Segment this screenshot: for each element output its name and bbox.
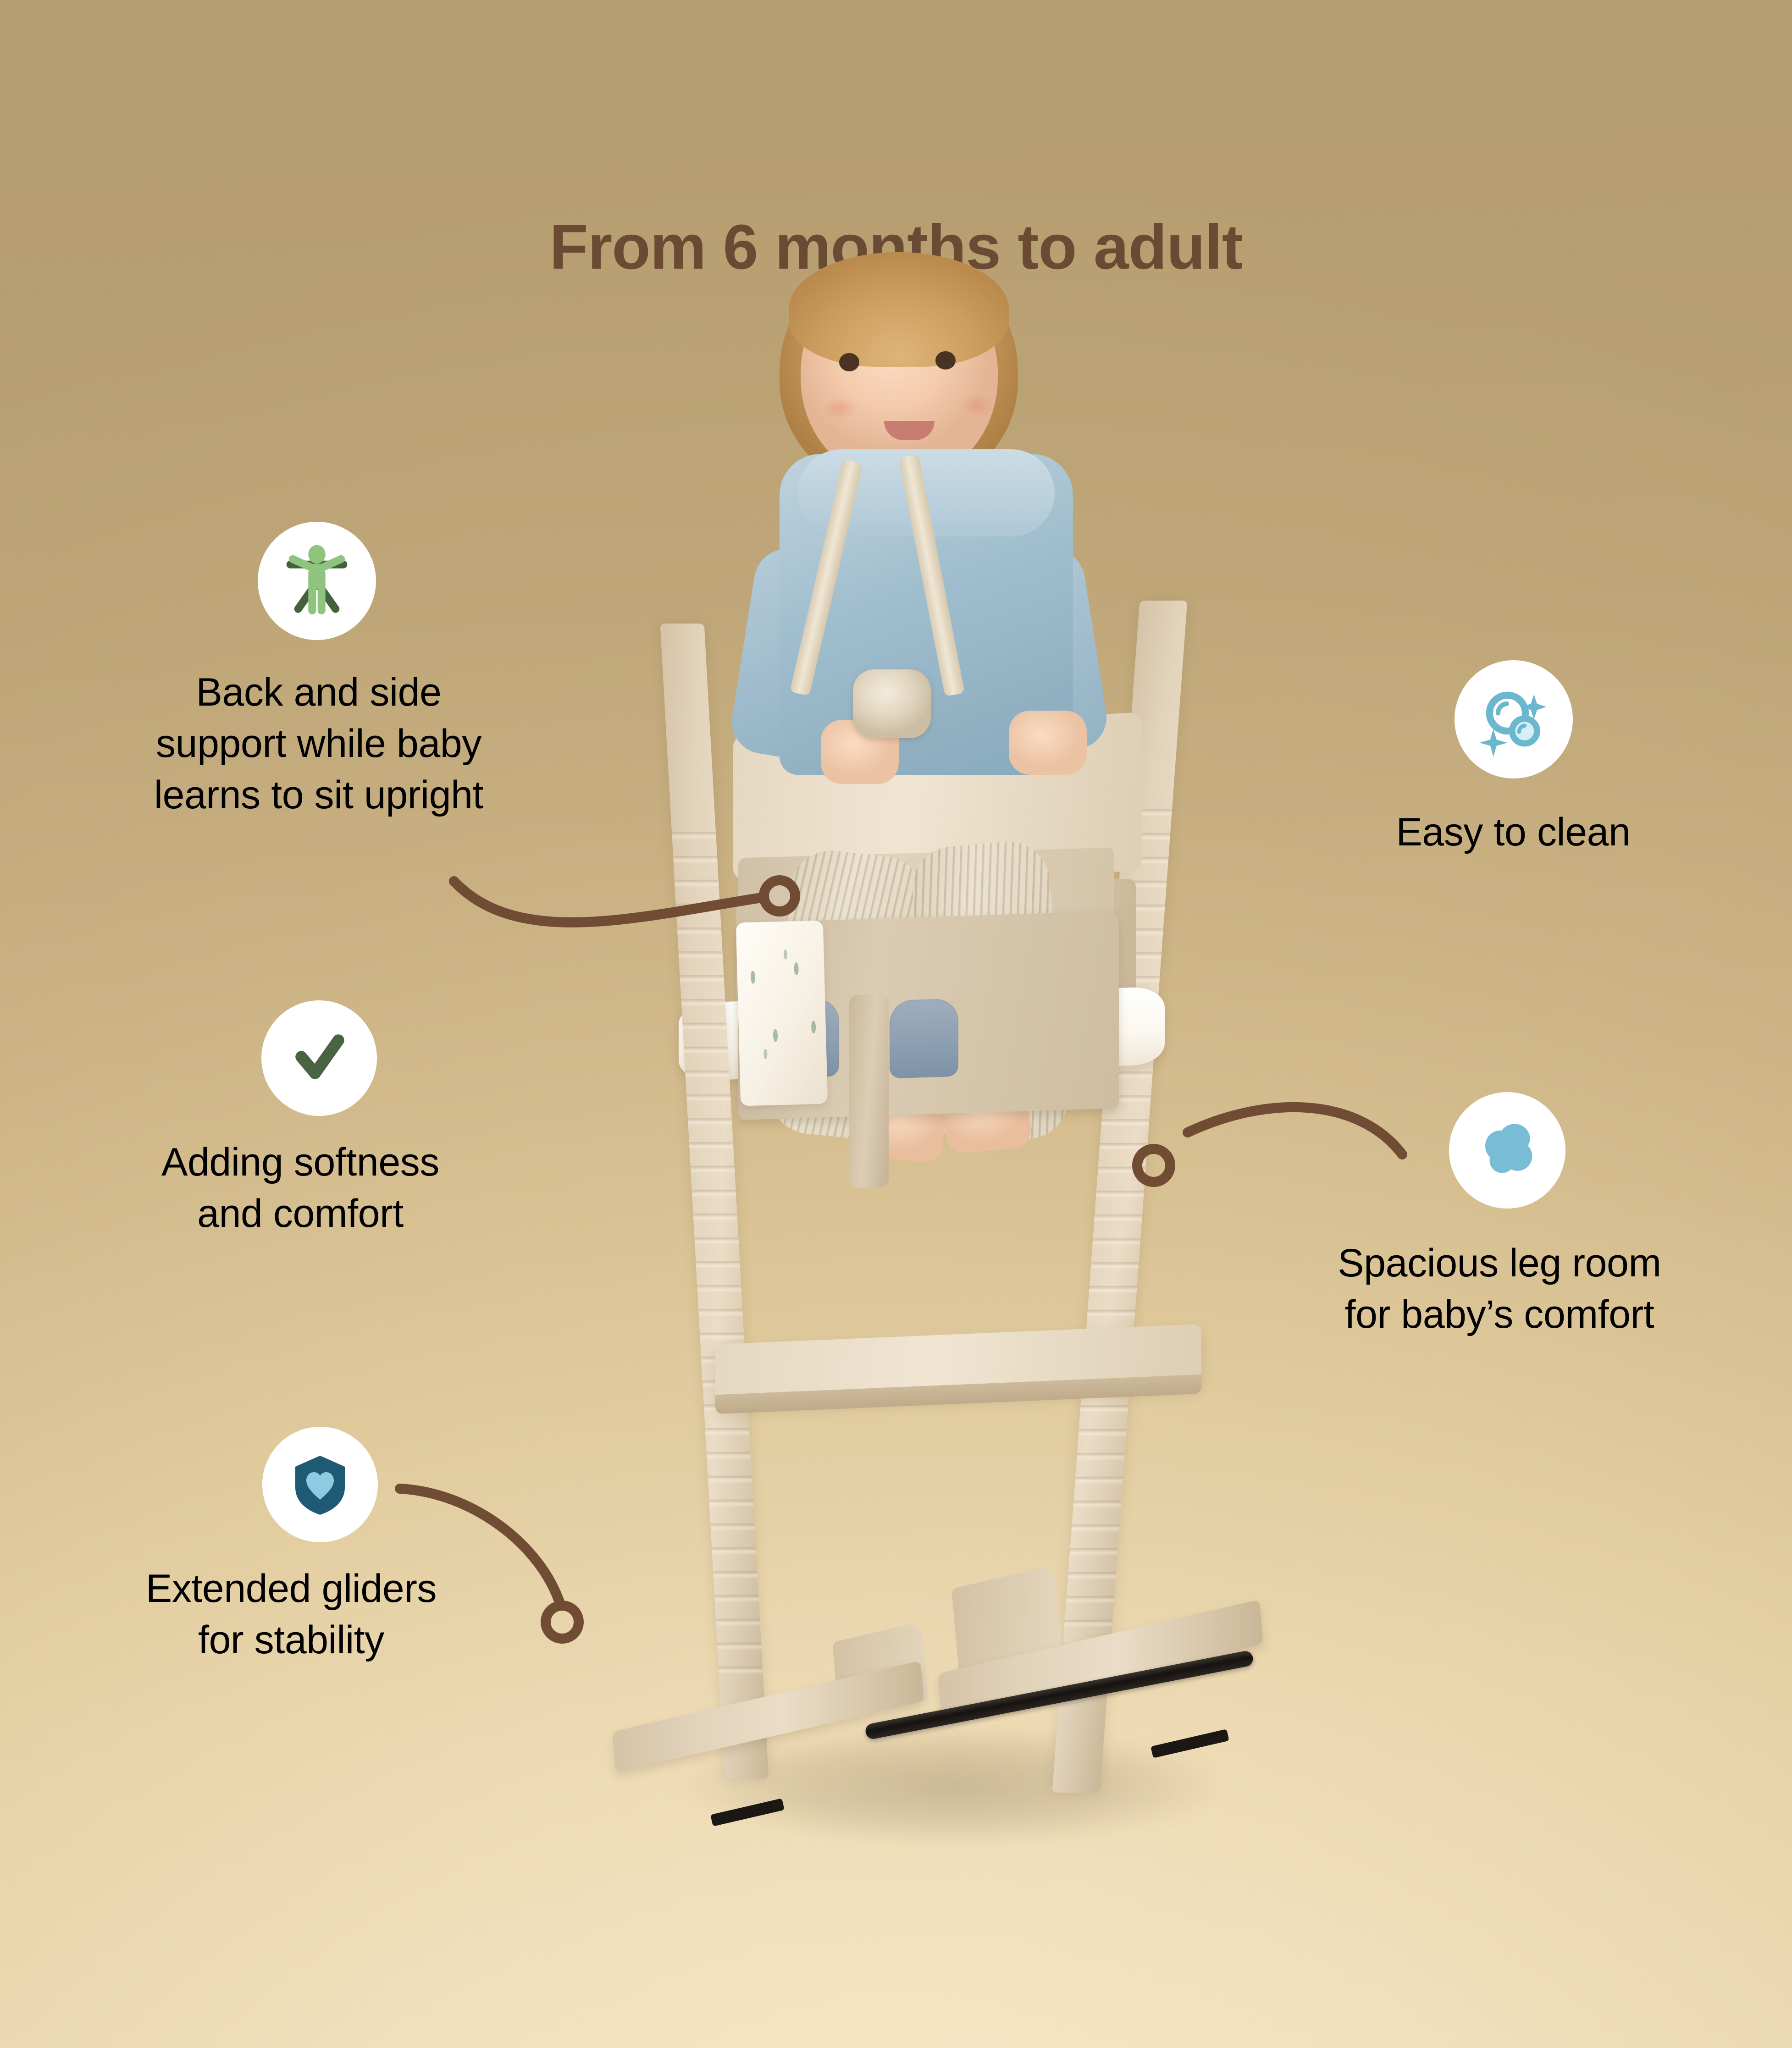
product-photo <box>541 403 1330 1916</box>
baby-set-center-post <box>849 994 889 1188</box>
check-icon <box>261 1000 377 1116</box>
caption-line: learns to sit upright <box>50 770 587 821</box>
cloud-glyph <box>1471 1114 1544 1187</box>
caption-line: Back and side <box>50 667 587 718</box>
cloud-icon <box>1449 1092 1565 1209</box>
feature-caption-spacious-leg-room: Spacious leg room for baby’s comfort <box>1229 1238 1770 1341</box>
shield-heart-icon <box>262 1427 378 1542</box>
check-glyph <box>285 1024 354 1093</box>
infographic-canvas: From 6 months to adult <box>0 0 1792 2048</box>
caption-line: Extended gliders <box>50 1563 532 1615</box>
baby-hair-fringe <box>789 252 1009 367</box>
feature-caption-easy-to-clean: Easy to clean <box>1256 807 1770 858</box>
bubbles-sparkle-icon <box>1455 660 1573 778</box>
cushion-leaf-print <box>736 921 828 1106</box>
baby-hand-right <box>1009 711 1087 775</box>
baby-eye-right <box>935 351 956 370</box>
shield-heart-glyph <box>286 1450 354 1519</box>
side-support-cushion <box>736 921 828 1106</box>
caption-line: for stability <box>50 1615 532 1666</box>
baby-cheek-right <box>952 390 1002 422</box>
vitruvian-body-icon <box>258 522 376 640</box>
feature-caption-extended-gliders: Extended gliders for stability <box>50 1563 532 1666</box>
baby-set-opening-right <box>890 999 958 1079</box>
bubbles-sparkle-glyph <box>1475 680 1553 758</box>
caption-line: and comfort <box>50 1188 550 1240</box>
caption-line: Spacious leg room <box>1229 1238 1770 1289</box>
caption-line: Easy to clean <box>1256 807 1770 858</box>
feature-caption-back-and-side-support: Back and side support while baby learns … <box>50 667 587 821</box>
baby-eye-left <box>839 353 859 371</box>
caption-line: for baby’s comfort <box>1229 1289 1770 1341</box>
feature-caption-adding-softness: Adding softness and comfort <box>50 1137 550 1240</box>
caption-line: Adding softness <box>50 1137 550 1188</box>
baby-cheek-left <box>814 392 865 425</box>
harness-buckle <box>853 669 931 738</box>
caption-line: support while baby <box>50 718 587 770</box>
vitruvian-body-glyph <box>278 542 356 620</box>
